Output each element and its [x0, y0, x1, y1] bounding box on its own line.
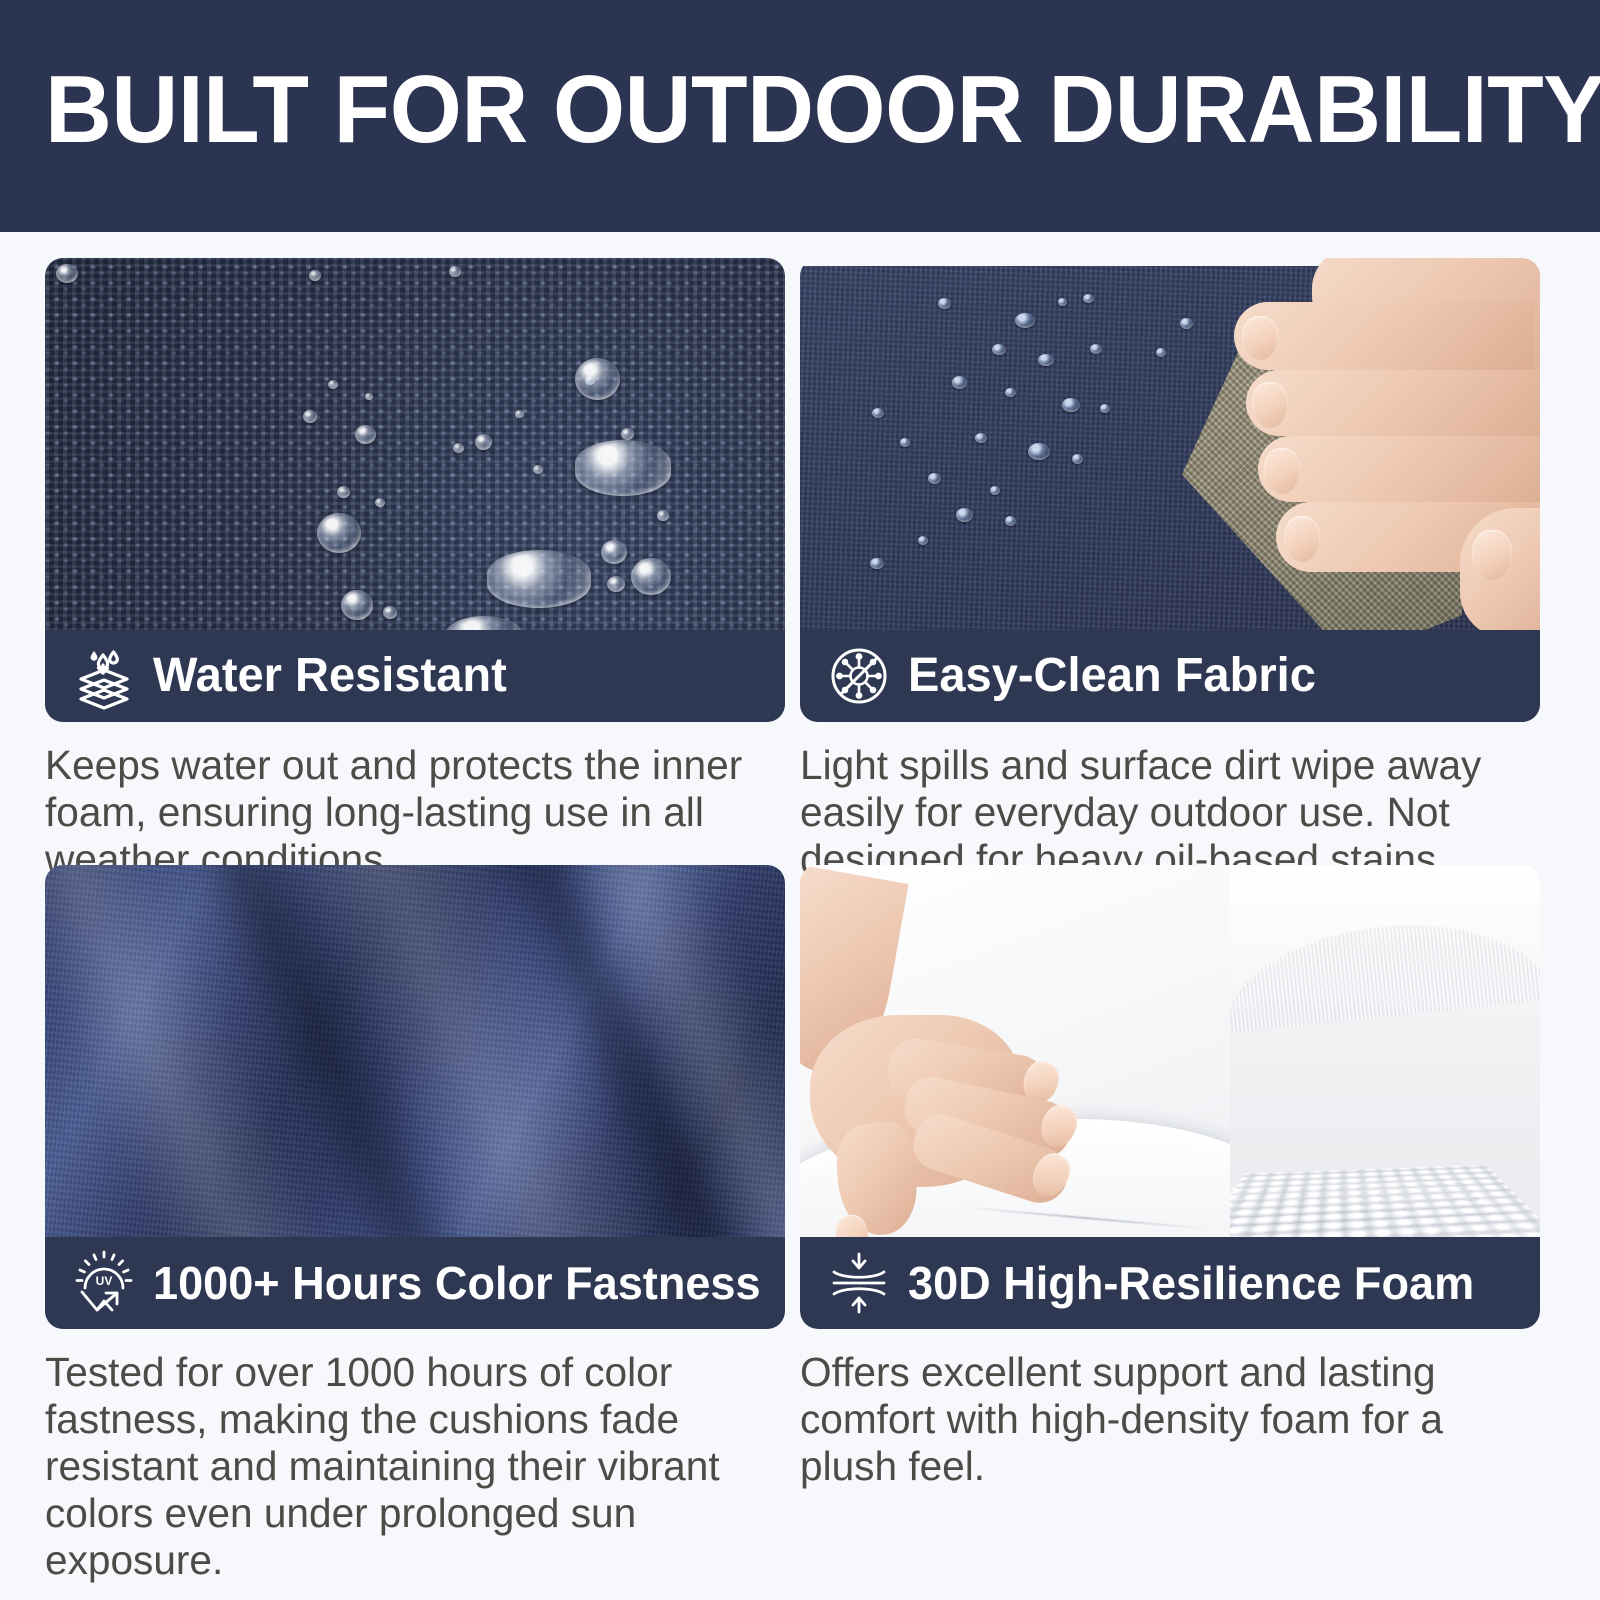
uv-sun-protection-icon: UV: [67, 1246, 141, 1320]
feature-label-bar: 30D High-Resilience Foam: [800, 1237, 1540, 1329]
feature-cell-water-resistant: Water Resistant Keeps water out and prot…: [45, 258, 785, 883]
feature-label-bar: UV 1000+ Hours Color Fastness: [45, 1237, 785, 1329]
feature-label: 1000+ Hours Color Fastness: [153, 1258, 761, 1308]
feature-description: Offers excellent support and lasting com…: [800, 1349, 1538, 1490]
feature-label-bar: Easy-Clean Fabric: [800, 630, 1540, 722]
feature-description: Light spills and surface dirt wipe away …: [800, 742, 1538, 883]
anti-bacteria-slash-icon: [822, 639, 896, 713]
feature-cell-high-resilience-foam: 30D High-Resilience Foam Offers excellen…: [800, 865, 1540, 1490]
feature-card: Easy-Clean Fabric: [800, 258, 1540, 722]
feature-grid: Water Resistant Keeps water out and prot…: [0, 232, 1600, 1600]
header-banner: BUILT FOR OUTDOOR DURABILITY: [0, 0, 1600, 232]
water-droplets-layers-icon: [67, 639, 141, 713]
feature-label: 30D High-Resilience Foam: [908, 1258, 1474, 1308]
svg-text:UV: UV: [96, 1274, 113, 1288]
feature-card: Water Resistant: [45, 258, 785, 722]
feature-description: Keeps water out and protects the inner f…: [45, 742, 783, 883]
feature-label-bar: Water Resistant: [45, 630, 785, 722]
feature-card: 30D High-Resilience Foam: [800, 865, 1540, 1329]
feature-card: UV 1000+ Hours Color Fastness: [45, 865, 785, 1329]
feature-cell-easy-clean-fabric: Easy-Clean Fabric Light spills and surfa…: [800, 258, 1540, 883]
feature-label: Easy-Clean Fabric: [908, 651, 1316, 701]
foam-compression-arrows-icon: [822, 1246, 896, 1320]
page-title: BUILT FOR OUTDOOR DURABILITY: [45, 62, 1600, 158]
feature-cell-color-fastness: UV 1000+ Hours Color Fastness Tested for…: [45, 865, 785, 1584]
feature-description: Tested for over 1000 hours of color fast…: [45, 1349, 783, 1584]
feature-label: Water Resistant: [153, 651, 507, 701]
